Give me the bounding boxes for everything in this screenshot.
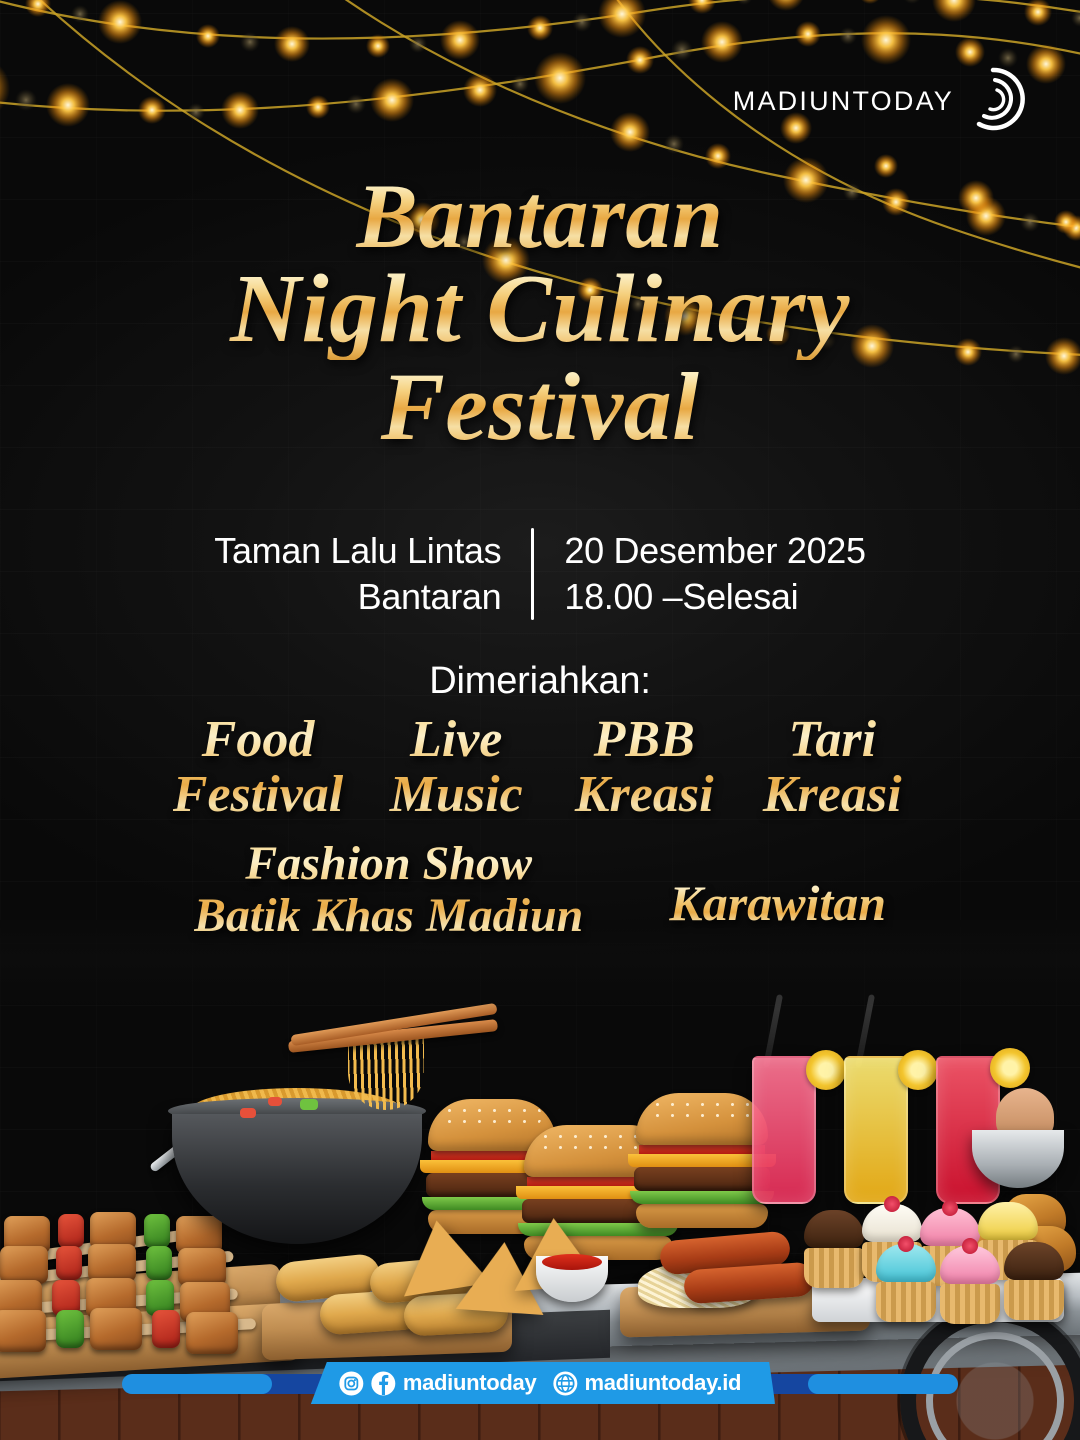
cupcake-frosting [862, 1204, 922, 1242]
venue-text: Taman Lalu Lintas Bantaran [214, 528, 531, 620]
burger-bun-top [636, 1093, 768, 1145]
lemon-slice [898, 1050, 938, 1090]
cupcake-base [940, 1284, 1000, 1324]
attraction-karawitan: Karawitan [669, 874, 886, 932]
social-banner: madiuntoday madiuntoday.id [305, 1362, 775, 1404]
lemon-slice [806, 1050, 846, 1090]
title-line-1: Bantaran [0, 170, 1080, 264]
burger [636, 1093, 768, 1228]
website-text[interactable]: madiuntoday.id [584, 1370, 741, 1396]
title-line-3: Festival [0, 358, 1080, 456]
globe-icon[interactable] [552, 1371, 577, 1396]
cupcake-pink [940, 1246, 1000, 1324]
poster-title: Bantaran Night Culinary Festival [0, 170, 1080, 456]
berry-topping [962, 1238, 978, 1254]
social-handles-group[interactable]: madiuntoday [339, 1370, 537, 1396]
attraction-live-music: Live Music [381, 712, 531, 822]
footer-bar-segment-blue-right [808, 1374, 958, 1394]
burger-patty [634, 1167, 770, 1191]
brand-logo: MADIUNTODAY [733, 66, 1026, 137]
footer-bar: madiuntoday madiuntoday.id [0, 1366, 1080, 1400]
datetime-text: 20 Desember 2025 18.00 –Selesai [534, 528, 865, 620]
swoosh-circle-icon [960, 66, 1026, 137]
attraction-pbb-kreasi: PBB Kreasi [569, 712, 719, 822]
cupcake-frosting [940, 1246, 1000, 1284]
attraction-fashion-show: Fashion Show Batik Khas Madiun [194, 838, 583, 942]
cupcake-chocolate [1004, 1242, 1064, 1320]
lineup-heading: Dimeriahkan: [0, 660, 1080, 703]
lineup-row-1: Food Festival Live Music PBB Kreasi Tari… [60, 712, 1020, 822]
drink-glass-yellow [844, 1056, 908, 1204]
burger-tomato [639, 1145, 765, 1154]
cupcake-frosting [876, 1244, 936, 1282]
ketchup-sauce [542, 1254, 602, 1270]
cupcake-frosting [1004, 1242, 1064, 1280]
cupcake-frosting [978, 1202, 1038, 1240]
drink-glass-pink [752, 1056, 816, 1204]
instagram-icon[interactable] [339, 1371, 364, 1396]
berry-topping [942, 1200, 958, 1216]
cupcake-base [1004, 1280, 1064, 1320]
lineup-row-2: Fashion Show Batik Khas Madiun Karawitan [0, 838, 1080, 942]
website-group[interactable]: madiuntoday.id [552, 1370, 741, 1396]
berry-topping [884, 1196, 900, 1212]
attraction-food-festival: Food Festival [173, 712, 343, 822]
cupcake-base [876, 1282, 936, 1322]
cupcake-blue [876, 1244, 936, 1322]
social-handle-text[interactable]: madiuntoday [403, 1370, 537, 1396]
facebook-icon[interactable] [371, 1371, 396, 1396]
cupcake-chocolate [804, 1210, 864, 1288]
event-poster: MADIUNTODAY Bantaran Night Culinary Fest… [0, 0, 1080, 1440]
attraction-tari-kreasi: Tari Kreasi [757, 712, 907, 822]
event-info-row: Taman Lalu Lintas Bantaran 20 Desember 2… [0, 528, 1080, 620]
brand-logo-text: MADIUNTODAY [733, 86, 954, 117]
title-line-2: Night Culinary [0, 260, 1080, 360]
lemon-slice [990, 1048, 1030, 1088]
burger-bun-bottom [636, 1204, 768, 1228]
cupcake-frosting [804, 1210, 864, 1248]
footer-bar-segment-blue-left [122, 1374, 272, 1394]
berry-topping [898, 1236, 914, 1252]
cupcake-base [804, 1248, 864, 1288]
